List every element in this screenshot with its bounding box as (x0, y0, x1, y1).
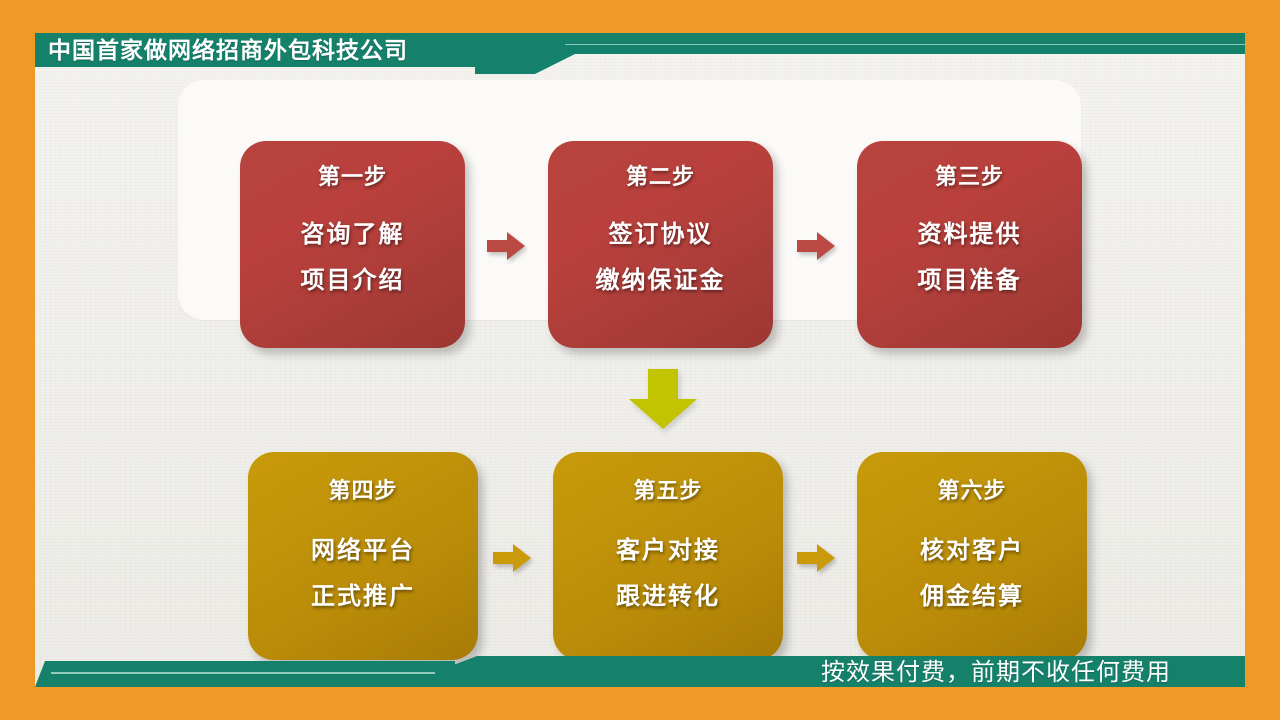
arrow-right-gold-icon-2 (797, 541, 835, 575)
step-card-5[interactable]: 第五步 客户对接 跟进转化 (553, 452, 783, 660)
arrow-right-gold-icon (493, 541, 531, 575)
arrow-down-green-icon (625, 369, 701, 429)
step-card-6[interactable]: 第六步 核对客户 佣金结算 (857, 452, 1087, 660)
step-card-3-line2: 项目准备 (918, 258, 1022, 304)
arrow-right-red-icon (487, 229, 525, 263)
footer-bar-wedge (435, 656, 575, 687)
step-card-2-line2: 缴纳保证金 (596, 258, 726, 304)
step-card-2-title: 第二步 (626, 164, 695, 190)
step-card-6-line2: 佣金结算 (920, 574, 1024, 620)
step-card-3[interactable]: 第三步 资料提供 项目准备 (857, 141, 1082, 348)
step-card-3-title: 第三步 (935, 164, 1004, 190)
step-card-2[interactable]: 第二步 签订协议 缴纳保证金 (548, 141, 773, 348)
footer-bar-rule (51, 672, 441, 674)
footer-bar-right-segment (535, 656, 1245, 687)
step-card-4[interactable]: 第四步 网络平台 正式推广 (248, 452, 478, 660)
step-card-5-line2: 跟进转化 (616, 574, 720, 620)
step-card-1[interactable]: 第一步 咨询了解 项目介绍 (240, 141, 465, 348)
step-card-6-title: 第六步 (937, 478, 1006, 504)
step-card-2-line1: 签订协议 (596, 212, 726, 258)
step-card-5-body: 客户对接 跟进转化 (616, 528, 720, 620)
step-card-3-line1: 资料提供 (918, 212, 1022, 258)
arrow-right-red-icon-2 (797, 229, 835, 263)
step-card-4-body: 网络平台 正式推广 (311, 528, 415, 620)
slide: 第一步 咨询了解 项目介绍 第二步 签订协议 缴纳保证金 第三步 (0, 0, 1280, 720)
step-card-4-line1: 网络平台 (311, 528, 415, 574)
step-card-3-body: 资料提供 项目准备 (918, 212, 1022, 304)
step-card-1-line2: 项目介绍 (301, 258, 405, 304)
step-card-5-line1: 客户对接 (616, 528, 720, 574)
step-card-5-title: 第五步 (633, 478, 702, 504)
footer-tagline: 按效果付费，前期不收任何费用 (821, 658, 1231, 687)
footer-bar-left-segment (35, 661, 455, 687)
slide-canvas: 第一步 咨询了解 项目介绍 第二步 签订协议 缴纳保证金 第三步 (35, 33, 1245, 687)
step-card-4-line2: 正式推广 (311, 574, 415, 620)
step-card-6-line1: 核对客户 (920, 528, 1024, 574)
step-card-1-title: 第一步 (318, 164, 387, 190)
step-card-6-body: 核对客户 佣金结算 (920, 528, 1024, 620)
step-card-2-body: 签订协议 缴纳保证金 (596, 212, 726, 304)
step-card-1-line1: 咨询了解 (301, 212, 405, 258)
step-card-1-body: 咨询了解 项目介绍 (301, 212, 405, 304)
step-card-4-title: 第四步 (328, 478, 397, 504)
